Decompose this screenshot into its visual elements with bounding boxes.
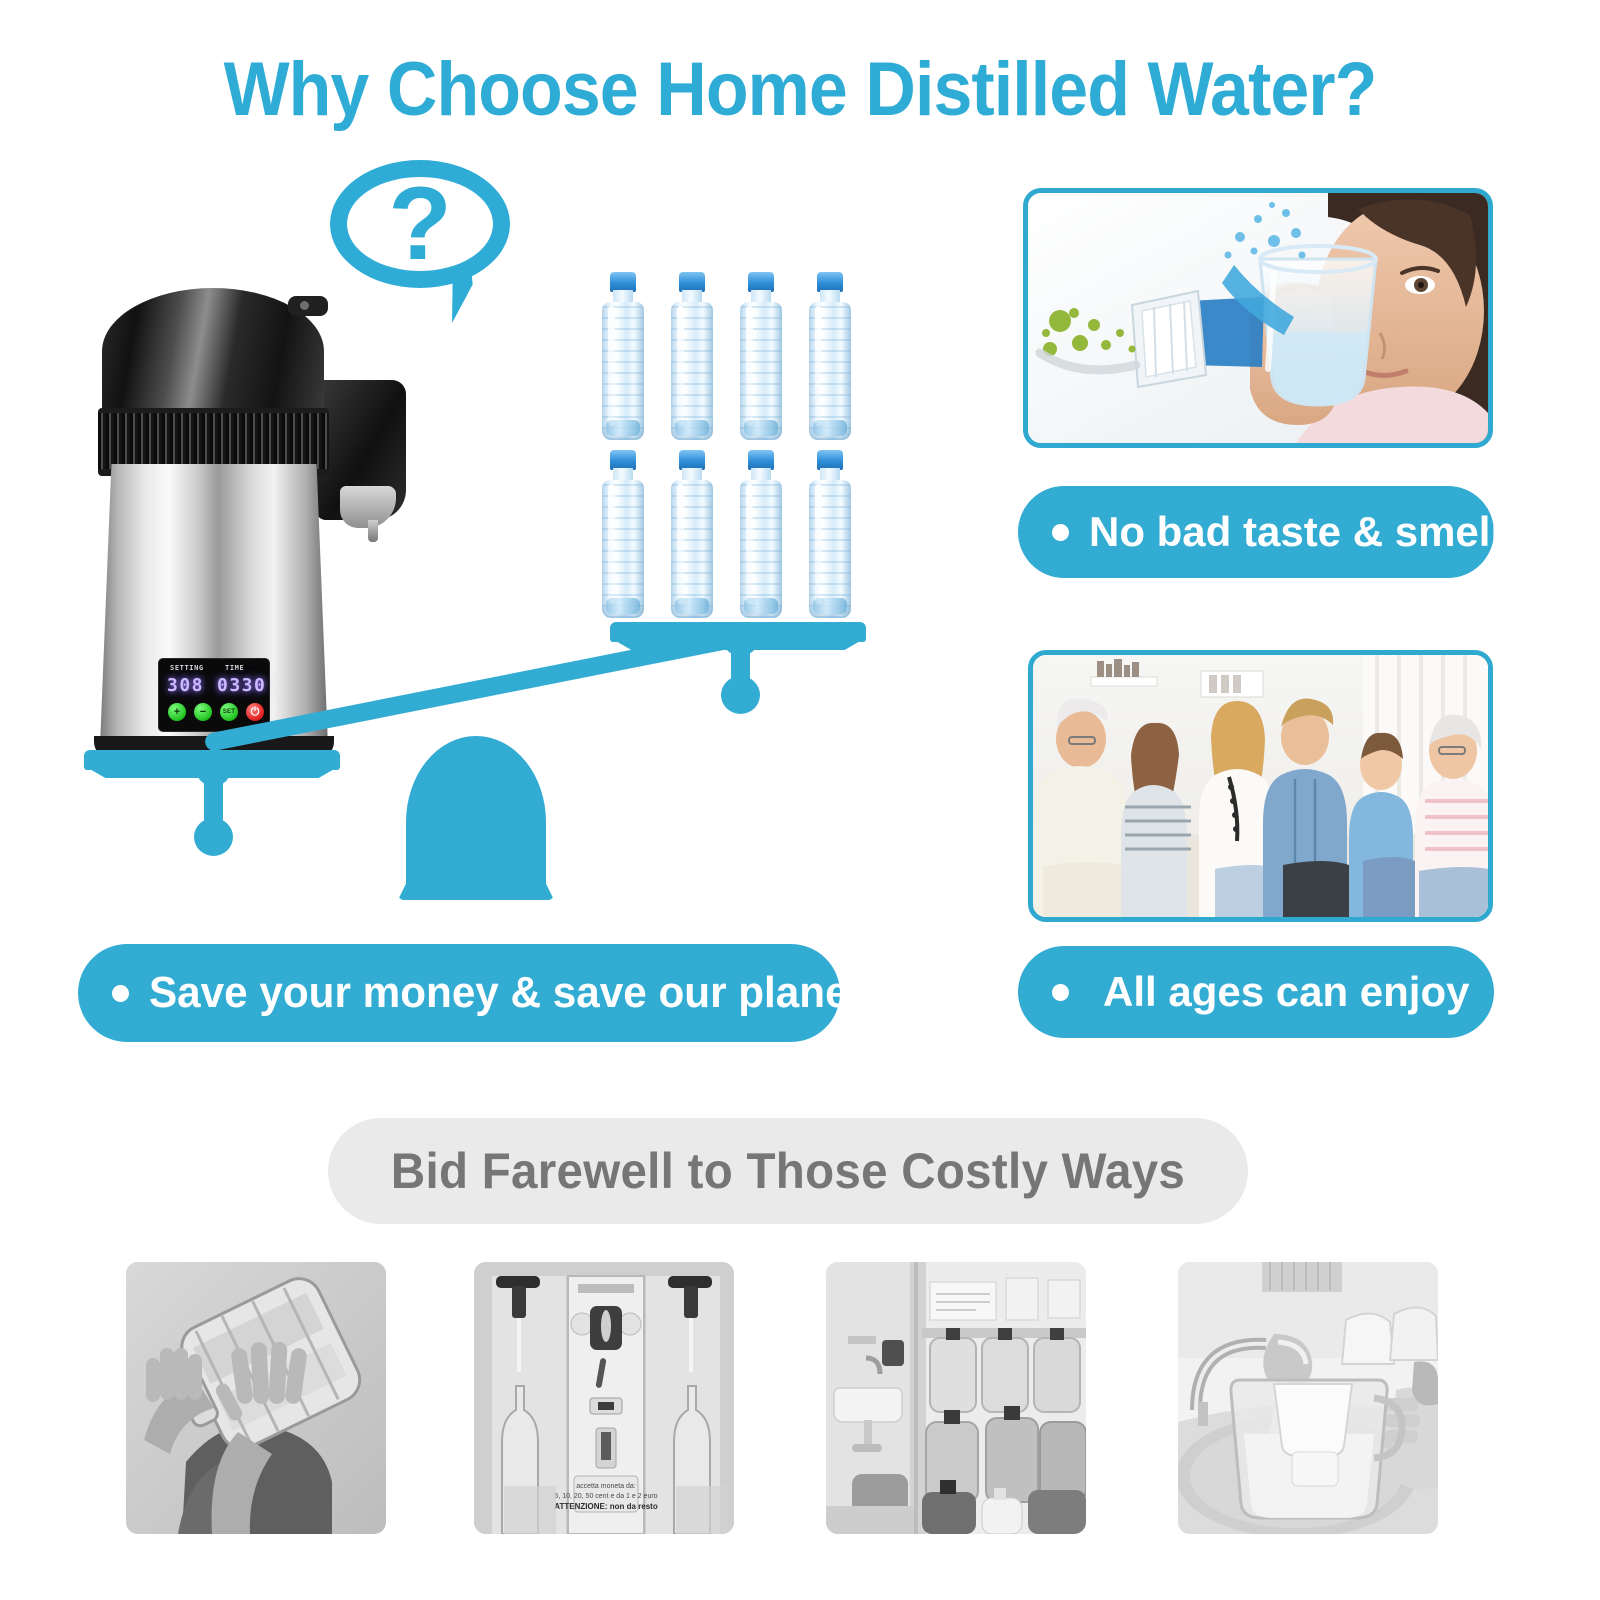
photo-family-artwork bbox=[1033, 655, 1488, 917]
photo-water-store-artwork bbox=[826, 1262, 1086, 1534]
water-bottle bbox=[600, 272, 646, 440]
vending-sign-line-3: ATTENZIONE: non da resto bbox=[554, 1502, 658, 1511]
photo-woman-drinking-water bbox=[1023, 188, 1493, 448]
scale-knob-left-bottom bbox=[194, 818, 233, 856]
distiller-lid bbox=[102, 288, 324, 420]
bullet-icon bbox=[1052, 984, 1069, 1001]
distiller-lid-knob bbox=[288, 296, 328, 316]
scale-knob-right-bottom bbox=[721, 676, 760, 714]
water-bottle bbox=[669, 272, 715, 440]
vending-sign-line-1: accetta moneta da: bbox=[576, 1483, 636, 1490]
water-bottle bbox=[807, 272, 853, 440]
photo-filter-pitcher-artwork bbox=[1178, 1262, 1438, 1534]
distiller-spout-tip bbox=[368, 520, 378, 542]
water-bottle bbox=[738, 450, 784, 618]
benefit-pill-money: Save your money & save our planet bbox=[78, 944, 840, 1042]
water-bottle bbox=[738, 272, 784, 440]
water-bottle bbox=[669, 450, 715, 618]
vending-sign-line-2: 5, 10, 20, 50 cent e da 1 e 2 euro bbox=[554, 1493, 657, 1500]
question-mark-glyph: ? bbox=[330, 168, 510, 280]
footer-banner: Bid Farewell to Those Costly Ways bbox=[328, 1118, 1248, 1224]
photo-family-on-sofa bbox=[1028, 650, 1493, 922]
scale-knob-left-top bbox=[197, 758, 230, 786]
benefit-pill-money-label: Save your money & save our planet bbox=[149, 968, 863, 1018]
photo-vending-artwork: accetta moneta da: 5, 10, 20, 50 cent e … bbox=[474, 1262, 734, 1534]
scale-fulcrum-foot bbox=[398, 868, 554, 900]
benefit-pill-ages-label: All ages can enjoy bbox=[1103, 968, 1469, 1016]
bottled-water-group bbox=[600, 272, 890, 624]
photo-man-with-water-jug-artwork bbox=[126, 1262, 386, 1534]
scale-beam bbox=[204, 626, 757, 752]
page-title: Why Choose Home Distilled Water? bbox=[64, 46, 1536, 133]
photo-man-with-water-jug bbox=[126, 1262, 386, 1534]
photo-woman-drinking-artwork bbox=[1028, 193, 1488, 443]
benefit-pill-ages: All ages can enjoy bbox=[1018, 946, 1494, 1038]
bullet-icon bbox=[1052, 524, 1069, 541]
bottle-row-top bbox=[600, 272, 853, 440]
photo-coin-water-vending-machine: accetta moneta da: 5, 10, 20, 50 cent e … bbox=[474, 1262, 734, 1534]
water-bottle bbox=[600, 450, 646, 618]
photo-water-refill-store bbox=[826, 1262, 1086, 1534]
benefit-pill-taste-label: No bad taste & smell bbox=[1089, 508, 1502, 556]
balance-scale-illustration bbox=[70, 620, 900, 920]
bottle-row-bottom bbox=[600, 450, 853, 618]
photo-filter-pitcher-at-tap bbox=[1178, 1262, 1438, 1534]
bullet-icon bbox=[112, 985, 129, 1002]
water-bottle bbox=[807, 450, 853, 618]
footer-banner-label: Bid Farewell to Those Costly Ways bbox=[391, 1142, 1185, 1200]
infographic-page: Why Choose Home Distilled Water? ? SETTI… bbox=[0, 0, 1600, 1600]
benefit-pill-taste: No bad taste & smell bbox=[1018, 486, 1494, 578]
